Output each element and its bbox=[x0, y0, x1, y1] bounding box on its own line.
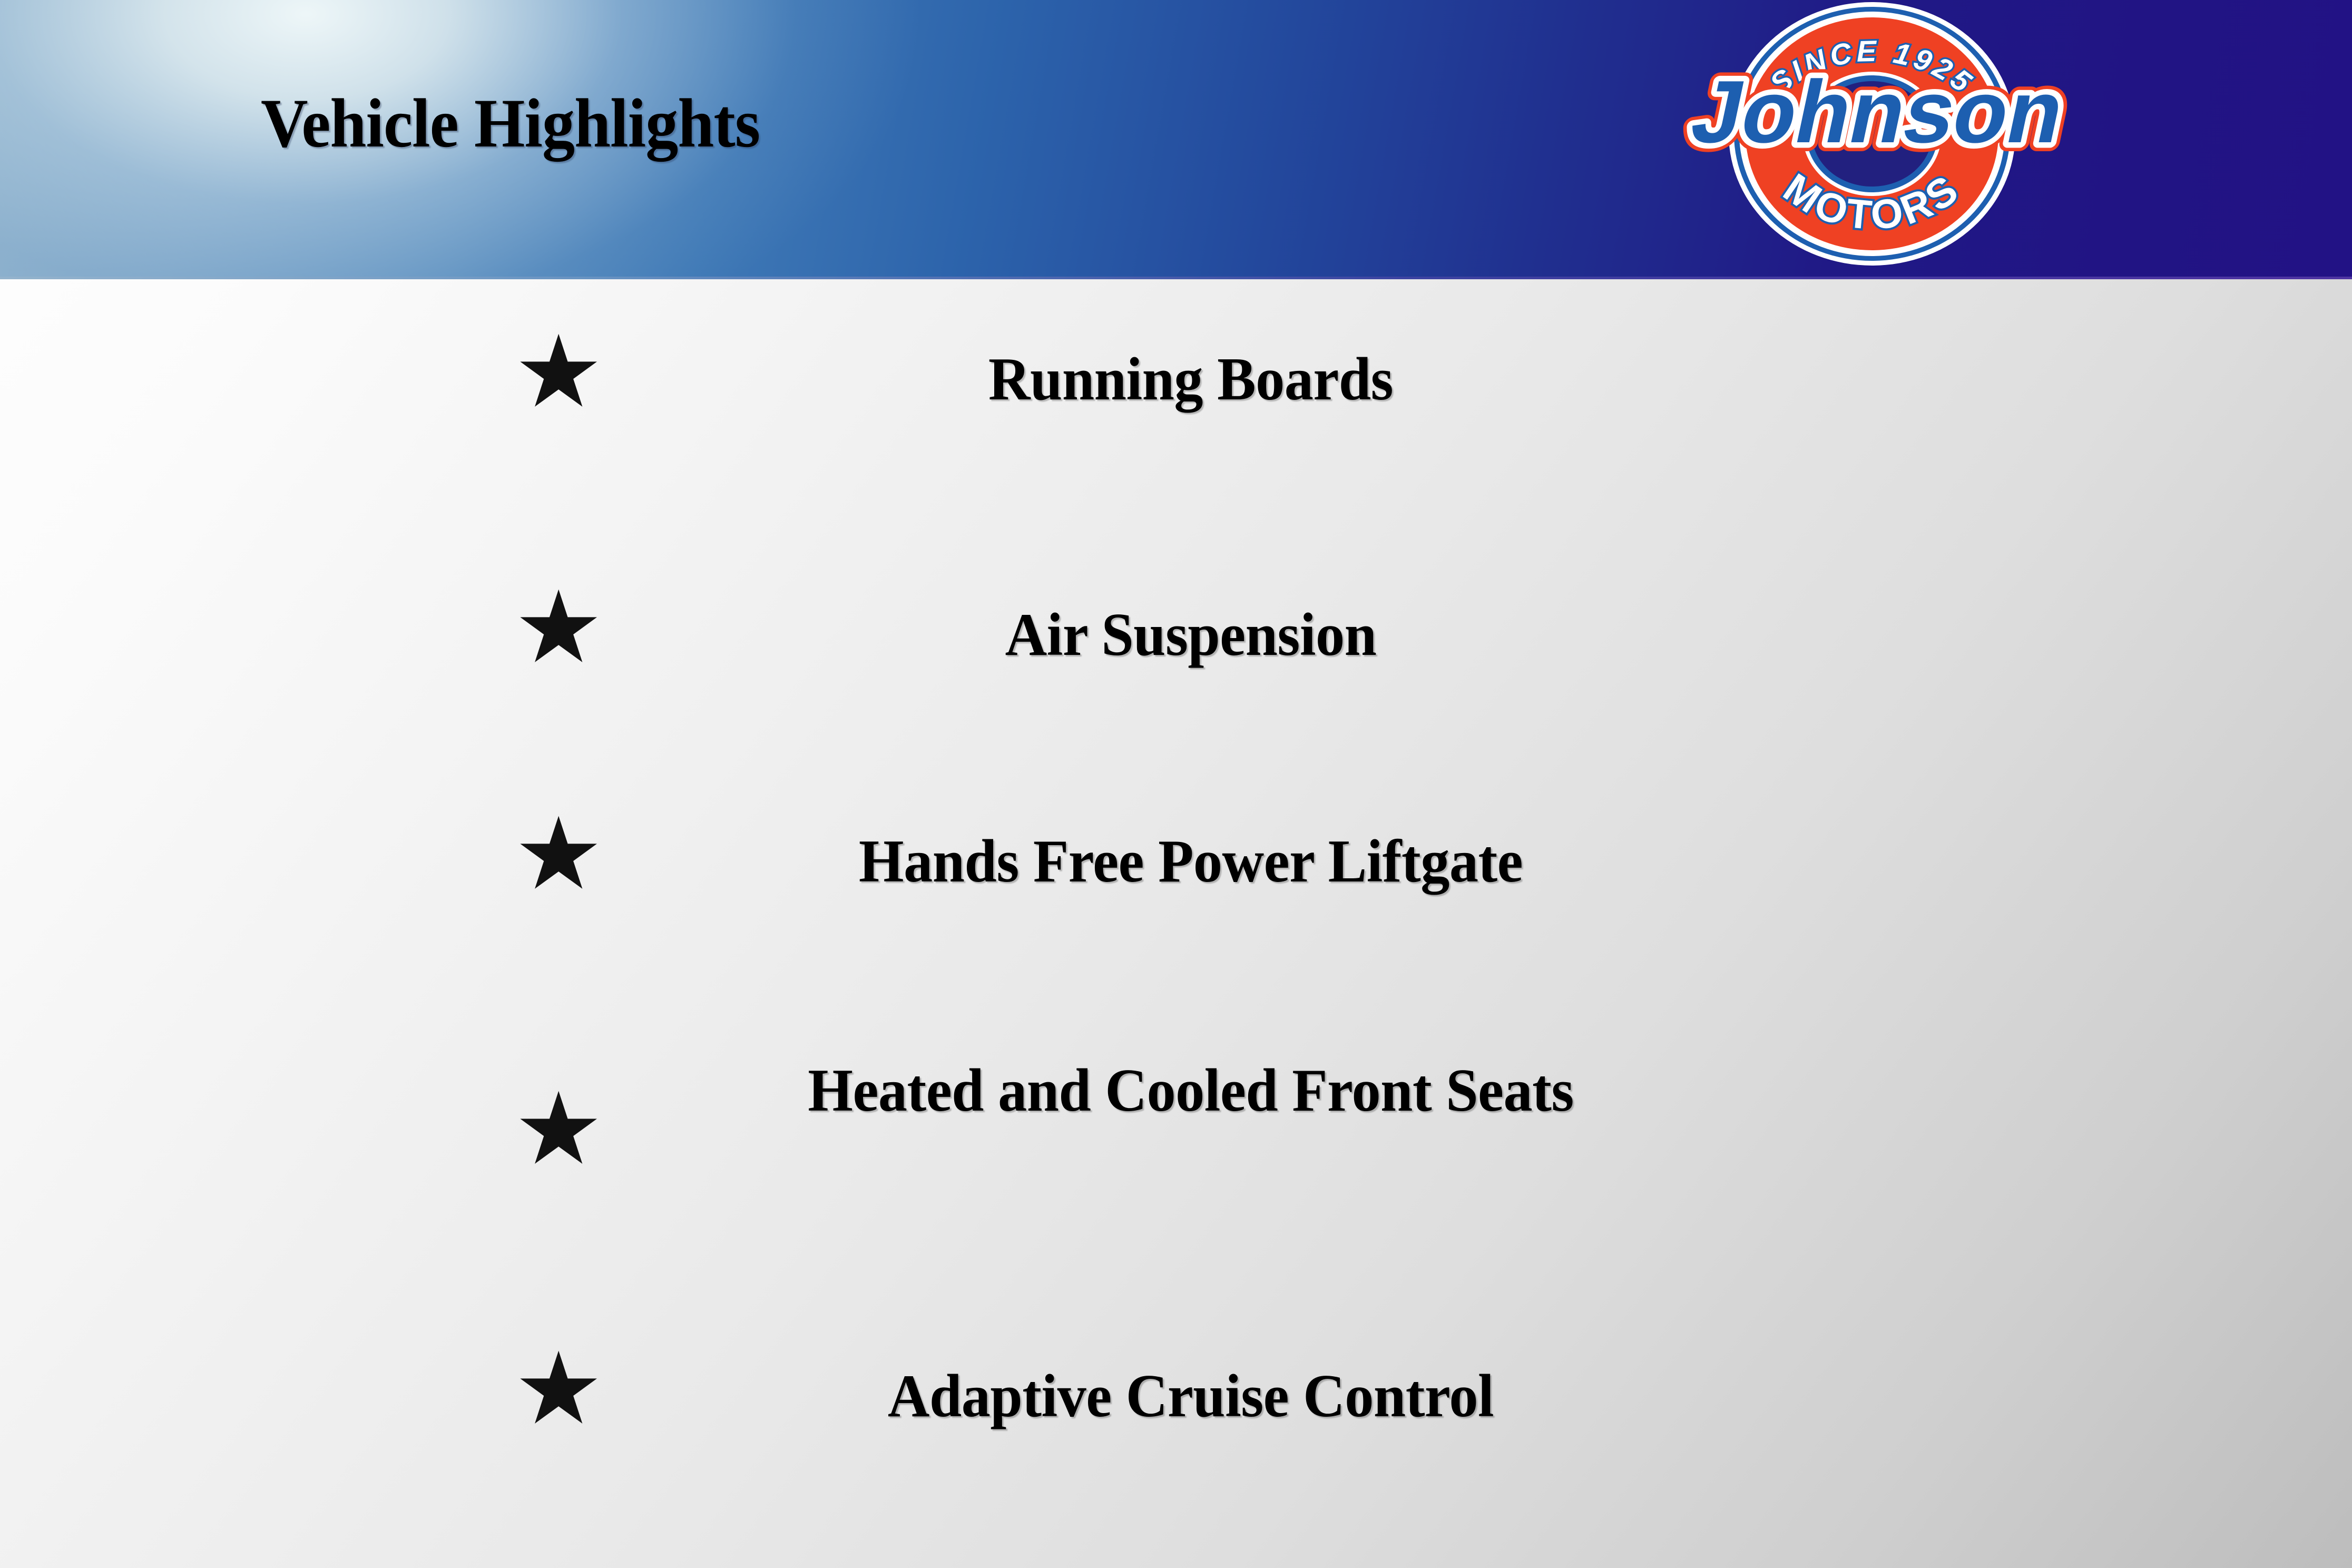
johnson-motors-logo: SINCE 1925 MOTORS Johnson Johnson Johnso… bbox=[1664, 1, 2080, 267]
logo-brand-text: Johnson bbox=[1683, 62, 2073, 161]
list-item: ★ Heated and Cooled Front Seats bbox=[0, 1043, 2352, 1217]
list-item: ★ Adaptive Cruise Control bbox=[0, 1344, 2352, 1444]
list-item: ★ Running Boards bbox=[0, 327, 2352, 427]
feature-label: Air Suspension bbox=[710, 592, 1671, 679]
feature-label: Heated and Cooled Front Seats bbox=[710, 1047, 1671, 1134]
list-item: ★ Hands Free Power Liftgate bbox=[0, 809, 2352, 909]
star-icon: ★ bbox=[514, 1353, 593, 1425]
star-icon: ★ bbox=[514, 592, 593, 664]
star-icon: ★ bbox=[514, 818, 593, 890]
star-icon: ★ bbox=[514, 1093, 593, 1165]
feature-label: Running Boards bbox=[710, 336, 1671, 423]
page-title: Vehicle Highlights bbox=[261, 89, 760, 158]
feature-label: Adaptive Cruise Control bbox=[710, 1353, 1671, 1440]
list-item: ★ Air Suspension bbox=[0, 582, 2352, 682]
feature-label: Hands Free Power Liftgate bbox=[710, 818, 1671, 905]
star-icon: ★ bbox=[514, 336, 593, 408]
slide-canvas: Vehicle Highlights bbox=[0, 0, 2352, 1568]
feature-list: ★ Running Boards ★ Air Suspension ★ Hand… bbox=[0, 279, 2352, 1568]
